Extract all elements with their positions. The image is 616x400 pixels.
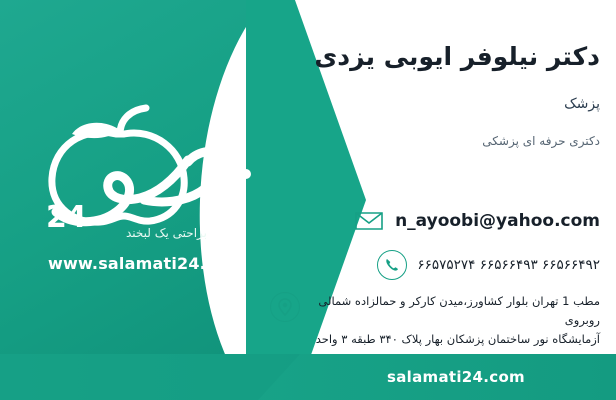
- address-line-1: مطب 1 تهران بلوار کشاورز،میدن کارکر و حم…: [318, 294, 600, 327]
- doctor-name: دکتر نیلوفر ایوبی یزدی: [314, 42, 600, 71]
- phone-numbers[interactable]: ۶۶۵۷۵۲۷۴ ۶۶۵۶۶۴۹۳ ۶۶۵۶۶۴۹۲: [417, 257, 600, 273]
- logo-tagline: براحتی یک لبخند: [126, 226, 207, 240]
- phone-row: ۶۶۵۷۵۲۷۴ ۶۶۵۶۶۴۹۳ ۶۶۵۶۶۴۹۲: [377, 250, 600, 280]
- brand-logo: 24 براحتی یک لبخند www.salamati24.com: [18, 96, 268, 286]
- logo-number: 24: [46, 200, 86, 235]
- location-pin-icon: [270, 292, 300, 322]
- email-text[interactable]: n_ayoobi@yahoo.com: [395, 211, 600, 231]
- footer-accent: [0, 354, 300, 400]
- business-card: 24 براحتی یک لبخند www.salamati24.com دک…: [0, 0, 616, 400]
- doctor-specialty: دکتری حرفه ای پزشکی: [482, 134, 600, 148]
- envelope-icon: [353, 208, 385, 234]
- phone-icon: [377, 250, 407, 280]
- doctor-job-title: پزشک: [564, 96, 600, 112]
- footer-website: salamati24.com: [296, 354, 616, 400]
- email-row: n_ayoobi@yahoo.com: [353, 208, 600, 234]
- logo-website: www.salamati24.com: [48, 254, 244, 273]
